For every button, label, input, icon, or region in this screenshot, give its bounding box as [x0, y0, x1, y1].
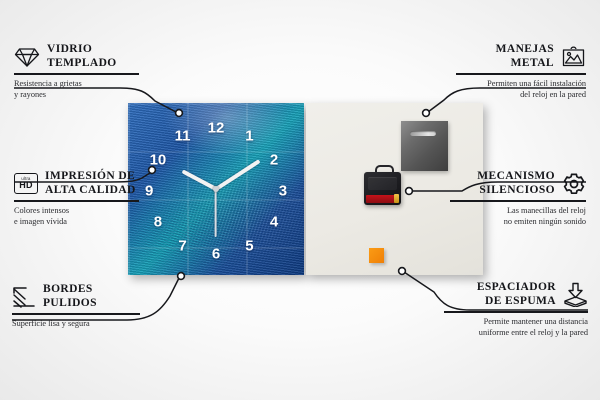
callout-manejas-rule [456, 73, 586, 75]
callout-vidrio-templado-rule [14, 73, 139, 75]
callout-espaciador-espuma: ESPACIADOR DE ESPUMA Permite mantener un… [444, 281, 588, 338]
leader-dot-vidrio-templado [176, 110, 183, 117]
wall-hanger-frame-icon [561, 45, 586, 68]
callout-manejas-head: MANEJAS METAL [456, 43, 586, 70]
callout-impresion-rule [14, 200, 139, 202]
leader-dot-mecanismo [406, 188, 413, 195]
leader-dot-manejas [423, 110, 430, 117]
leader-dot-impresion [149, 167, 156, 174]
callout-bordes-title: BORDES PULIDOS [43, 283, 97, 310]
infographic-canvas: 12 1 2 3 4 5 6 7 8 9 10 11 [0, 0, 600, 400]
foam-spacer-arrow-icon [563, 282, 588, 307]
leader-dot-bordes [178, 273, 185, 280]
callout-espaciador-subtitle: Permite mantener una distancia uniforme … [444, 317, 588, 339]
callout-manejas-metal: MANEJAS METAL Permiten una fácil instala… [456, 43, 586, 100]
callout-espaciador-head: ESPACIADOR DE ESPUMA [444, 281, 588, 308]
polished-edges-icon [12, 286, 36, 308]
callout-vidrio-templado-subtitle: Resistencia a grietas y rayones [14, 79, 139, 101]
leader-dot-espaciador [399, 268, 406, 275]
callout-mecanismo-head: MECANISMO SILENCIOSO [450, 170, 586, 197]
callout-espaciador-rule [444, 311, 588, 313]
callout-mecanismo-rule [450, 200, 586, 202]
callout-espaciador-title: ESPACIADOR DE ESPUMA [477, 281, 556, 308]
callout-impresion-head: ultra HD IMPRESIÓN DE ALTA CALIDAD [14, 170, 139, 197]
callout-manejas-title: MANEJAS METAL [496, 43, 554, 70]
callout-manejas-subtitle: Permiten una fácil instalación del reloj… [456, 79, 586, 101]
callout-vidrio-templado: VIDRIO TEMPLADO Resistencia a grietas y … [14, 43, 139, 100]
callout-bordes-rule [12, 313, 140, 315]
callout-bordes-subtitle: Superficie lisa y segura [12, 319, 140, 330]
callout-impresion-title: IMPRESIÓN DE ALTA CALIDAD [45, 170, 136, 197]
callout-mecanismo-silencioso: MECANISMO SILENCIOSO Las manecillas del … [450, 170, 586, 227]
callout-mecanismo-subtitle: Las manecillas del reloj no emiten ningú… [450, 206, 586, 228]
callout-impresion-subtitle: Colores intensos e imagen vívida [14, 206, 139, 228]
callout-bordes-head: BORDES PULIDOS [12, 283, 140, 310]
callout-bordes-pulidos: BORDES PULIDOS Superficie lisa y segura [12, 283, 140, 330]
callout-impresion-alta-calidad: ultra HD IMPRESIÓN DE ALTA CALIDAD Color… [14, 170, 139, 227]
diamond-icon [14, 46, 40, 68]
callout-vidrio-templado-head: VIDRIO TEMPLADO [14, 43, 139, 70]
callout-vidrio-templado-title: VIDRIO TEMPLADO [47, 43, 117, 70]
callout-mecanismo-title: MECANISMO SILENCIOSO [477, 170, 555, 197]
gear-icon [562, 172, 586, 196]
ultra-hd-icon: ultra HD [14, 173, 38, 194]
